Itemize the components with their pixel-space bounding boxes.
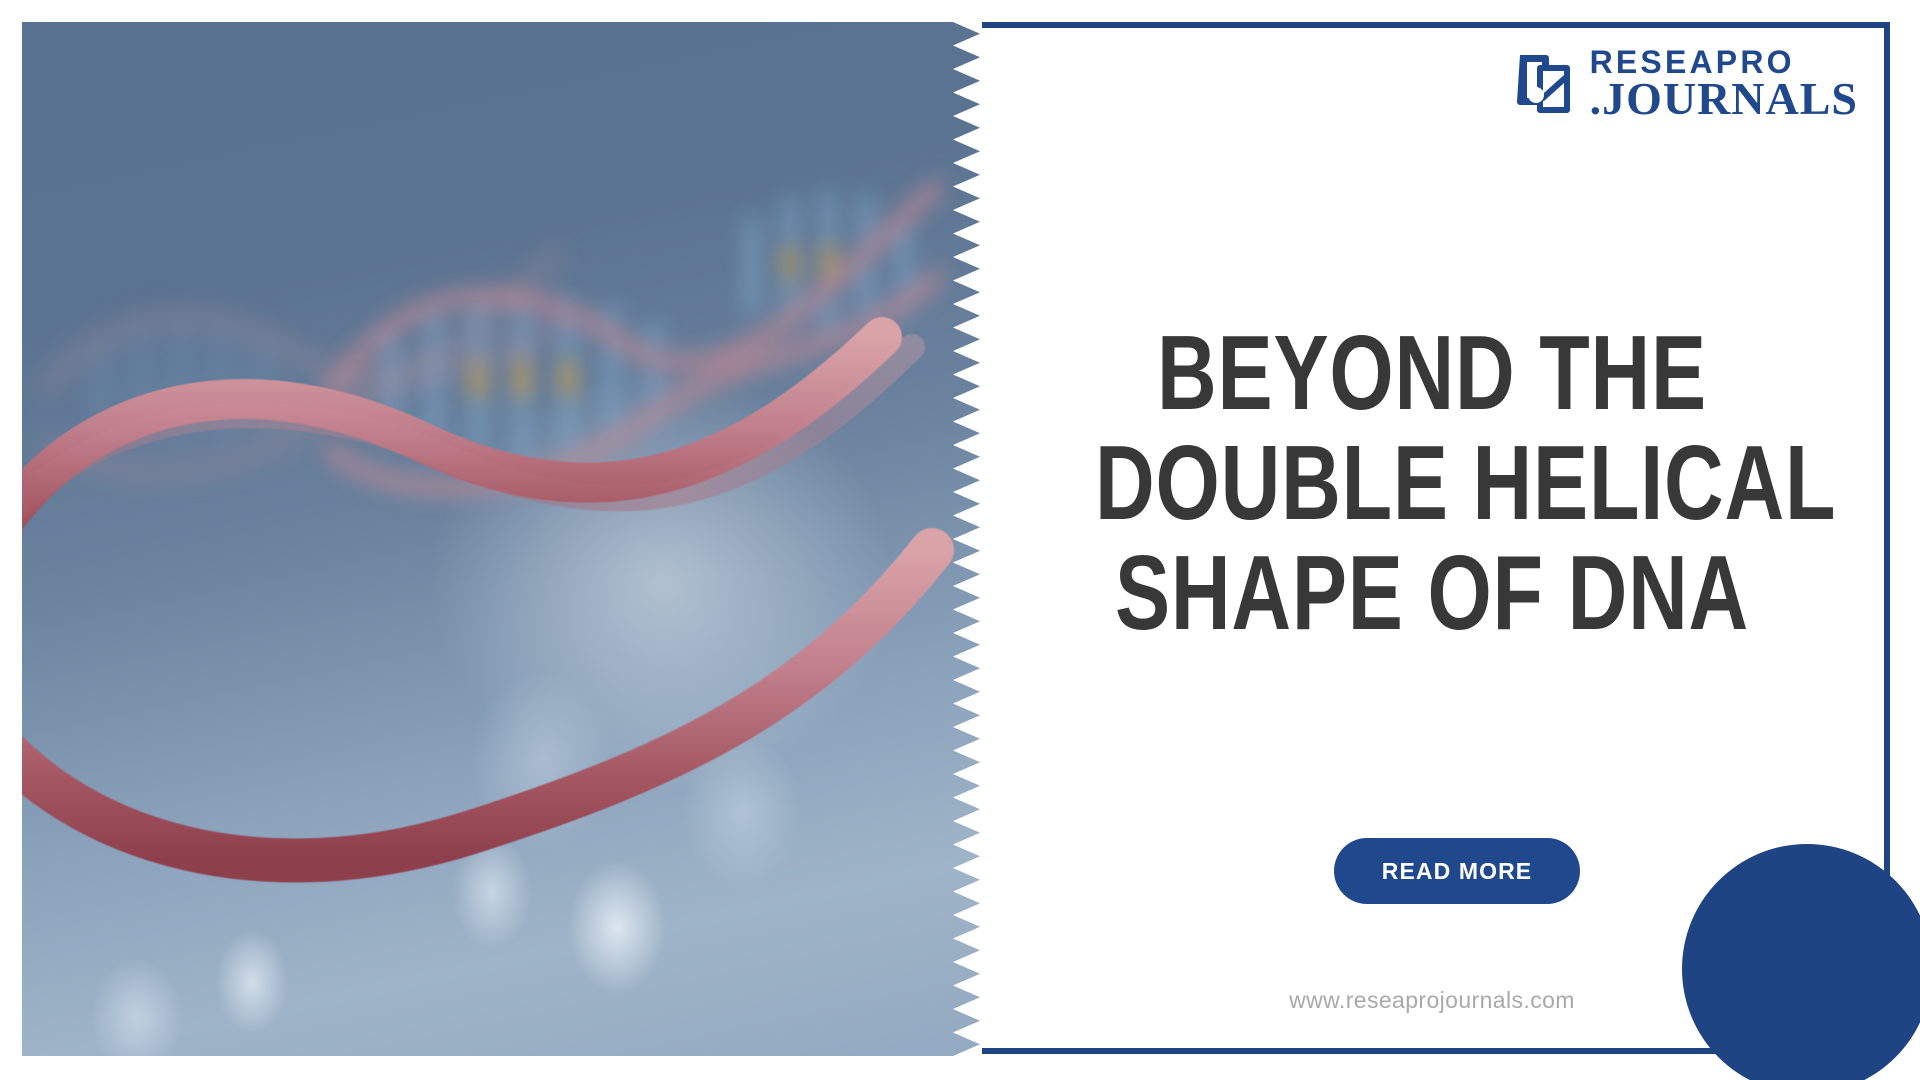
title-line-2: DOUBLE HELICAL xyxy=(1095,428,1769,538)
document-pages-icon xyxy=(1516,51,1574,117)
poster-canvas: RESEAPRO .JOURNALS BEYOND THE DOUBLE HEL… xyxy=(0,0,1920,1080)
brand-name-bottom: .JOURNALS xyxy=(1590,76,1858,122)
title-line-3: SHAPE OF DNA xyxy=(1095,538,1769,648)
foreground-dna-helix-icon xyxy=(22,142,980,1022)
frame-top-rule xyxy=(982,22,1890,28)
corner-circle-decoration xyxy=(1682,844,1920,1080)
dna-image-panel xyxy=(22,22,980,1056)
website-url[interactable]: www.reseaprojournals.com xyxy=(1000,987,1864,1014)
title-line-1: BEYOND THE xyxy=(1095,318,1769,428)
read-more-button[interactable]: READ MORE xyxy=(1334,838,1580,904)
brand-wordmark: RESEAPRO .JOURNALS xyxy=(1590,46,1858,122)
brand-logo[interactable]: RESEAPRO .JOURNALS xyxy=(1516,46,1858,122)
page-title: BEYOND THE DOUBLE HELICAL SHAPE OF DNA xyxy=(1095,318,1769,649)
